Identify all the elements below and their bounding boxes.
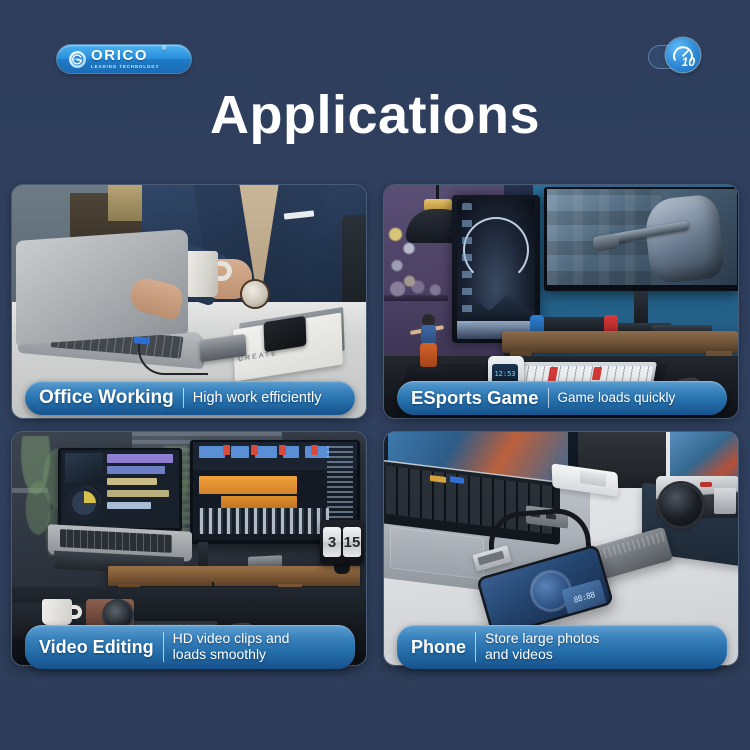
flip-clock-minute: 15 xyxy=(343,527,361,557)
orico-wordmark: ORICO® xyxy=(91,48,159,63)
caption-subtitle-line2: and videos xyxy=(485,646,553,662)
caption-subtitle-line1: Store large photos xyxy=(485,630,599,646)
orico-logo: ORICO® LEADING TECHNOLOGY xyxy=(57,45,191,73)
applications-page: ORICO® LEADING TECHNOLOGY 10 Application… xyxy=(0,0,750,750)
caption-title: Phone xyxy=(411,637,466,658)
caption-subtitle: Game loads quickly xyxy=(558,390,676,405)
registered-mark: ® xyxy=(162,46,166,52)
page-title: Applications xyxy=(0,84,750,146)
caption-phone: Phone Store large photos and videos xyxy=(397,625,727,669)
caption-video-editing: Video Editing HD video clips and loads s… xyxy=(25,625,355,669)
caption-subtitle: Store large photos and videos xyxy=(485,631,599,662)
flip-clock-hour: 3 xyxy=(323,527,341,557)
caption-subtitle-line2: loads smoothly xyxy=(173,646,266,662)
caption-divider xyxy=(548,388,549,408)
desk-clock-time: 12:53 xyxy=(494,370,515,378)
caption-subtitle: HD video clips and loads smoothly xyxy=(173,631,290,662)
caption-divider xyxy=(475,632,476,662)
caption-subtitle-line1: HD video clips and xyxy=(173,630,290,646)
caption-title: ESports Game xyxy=(411,387,539,409)
flip-clock: 3 15 xyxy=(320,520,364,564)
speed-badge: 10 xyxy=(648,36,706,76)
badge-speed-value: 10 xyxy=(682,56,695,68)
caption-divider xyxy=(183,388,184,408)
caption-subtitle: High work efficiently xyxy=(193,390,322,406)
speedometer-icon: 10 xyxy=(666,38,700,72)
orico-swirl-icon xyxy=(69,51,86,68)
caption-title: Office Working xyxy=(39,387,174,409)
orico-wordmark-text: ORICO xyxy=(91,47,148,64)
caption-office-working: Office Working High work efficiently xyxy=(25,381,355,415)
orico-tagline: LEADING TECHNOLOGY xyxy=(91,65,159,69)
caption-esports-game: ESports Game Game loads quickly xyxy=(397,381,727,415)
caption-title: Video Editing xyxy=(39,637,154,658)
caption-divider xyxy=(163,632,164,662)
